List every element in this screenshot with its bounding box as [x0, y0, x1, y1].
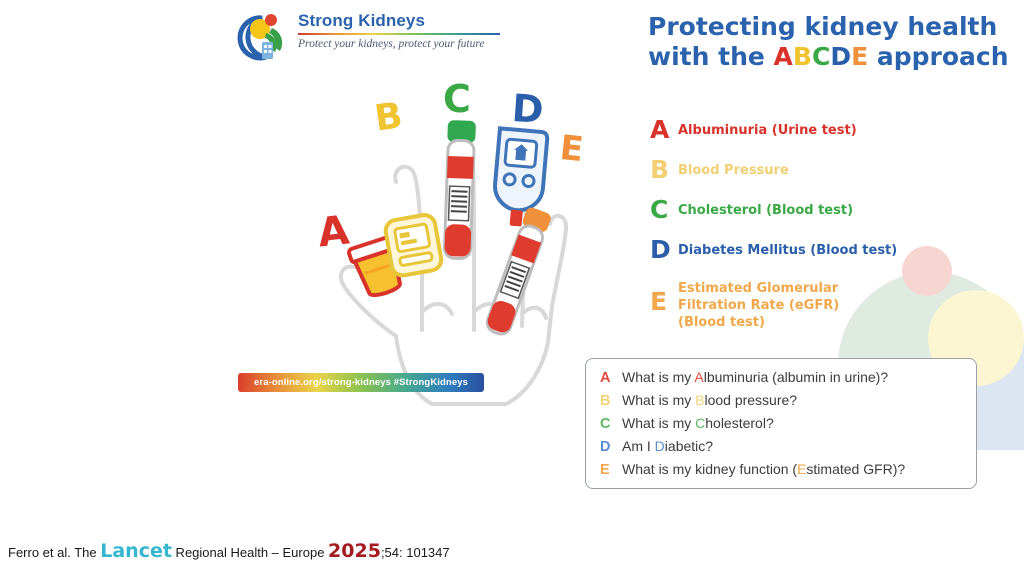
citation-footer: Ferro et al. The Lancet Regional Health … [8, 540, 450, 562]
question-row-b: B What is my Blood pressure? [600, 392, 962, 415]
title-letter-d: D [830, 42, 851, 71]
strong-kidneys-logo: Strong Kidneys Protect your kidneys, pro… [236, 8, 506, 66]
question-text-e: What is my kidney function (Estimated GF… [622, 461, 905, 477]
finger-letter-a: A [316, 210, 351, 253]
strong-kidneys-logo-icon [236, 11, 294, 63]
legend-text-a: Albuminuria (Urine test) [678, 118, 857, 139]
legend-text-d: Diabetes Mellitus (Blood test) [678, 238, 897, 259]
logo-tagline: Protect your kidneys, protect your futur… [298, 37, 504, 51]
citation-authors: Ferro et al. The [8, 545, 100, 560]
question-text-d: Am I Diabetic? [622, 438, 713, 454]
slide-canvas: Strong Kidneys Protect your kidneys, pro… [0, 0, 1024, 576]
finger-letter-b: B [373, 98, 405, 137]
title-letter-e: E [851, 42, 868, 71]
title-letter-a: A [774, 42, 793, 71]
page-title-line1: Protecting kidney health [648, 12, 997, 41]
question-text-c: What is my Cholesterol? [622, 415, 774, 431]
question-letter-d: D [600, 439, 622, 455]
legend-item-c: C Cholesterol (Blood test) [650, 198, 853, 222]
question-letter-b: B [600, 393, 622, 409]
citation-year: 2025 [328, 540, 381, 562]
legend-letter-b: B [650, 158, 678, 182]
question-text-b: What is my Blood pressure? [622, 392, 797, 408]
question-letter-e: E [600, 462, 622, 478]
title-letter-b: B [793, 42, 812, 71]
question-row-d: D Am I Diabetic? [600, 438, 962, 461]
logo-title: Strong Kidneys [298, 10, 504, 31]
legend-text-b: Blood Pressure [678, 158, 789, 179]
logo-gradient-rule [298, 33, 500, 35]
page-title-line2-suffix: approach [868, 42, 1008, 71]
campaign-url-banner[interactable]: era-online.org/strong-kidneys #StrongKid… [238, 373, 484, 392]
page-title-line2-prefix: with the [648, 42, 774, 71]
citation-journal: Lancet [100, 540, 172, 562]
legend-item-e: E Estimated Glomerular Filtration Rate (… [650, 276, 853, 331]
legend-text-c: Cholesterol (Blood test) [678, 198, 853, 219]
legend-item-b: B Blood Pressure [650, 158, 789, 182]
legend-letter-d: D [650, 238, 678, 262]
decorative-circle-pink [902, 246, 952, 296]
legend-letter-a: A [650, 118, 678, 142]
question-letter-a: A [600, 370, 622, 386]
legend-text-e: Estimated Glomerular Filtration Rate (eG… [678, 276, 853, 331]
finger-letter-c: C [443, 80, 471, 118]
legend-item-a: A Albuminuria (Urine test) [650, 118, 857, 142]
citation-series: Regional Health – Europe [172, 545, 328, 560]
patient-questions-box: A What is my Albuminuria (albumin in uri… [585, 358, 977, 489]
title-letter-c: C [812, 42, 830, 71]
question-row-a: A What is my Albuminuria (albumin in uri… [600, 369, 962, 392]
legend-item-d: D Diabetes Mellitus (Blood test) [650, 238, 897, 262]
citation-locator: ;54: 101347 [381, 545, 450, 560]
finger-letter-d: D [511, 89, 545, 129]
question-text-a: What is my Albuminuria (albumin in urine… [622, 369, 888, 385]
page-title: Protecting kidney health with the ABCDE … [648, 12, 1018, 72]
question-row-c: C What is my Cholesterol? [600, 415, 962, 438]
legend-letter-e: E [650, 276, 678, 314]
question-row-e: E What is my kidney function (Estimated … [600, 461, 962, 484]
finger-letter-e: E [558, 131, 585, 167]
question-letter-c: C [600, 416, 622, 432]
legend-letter-c: C [650, 198, 678, 222]
